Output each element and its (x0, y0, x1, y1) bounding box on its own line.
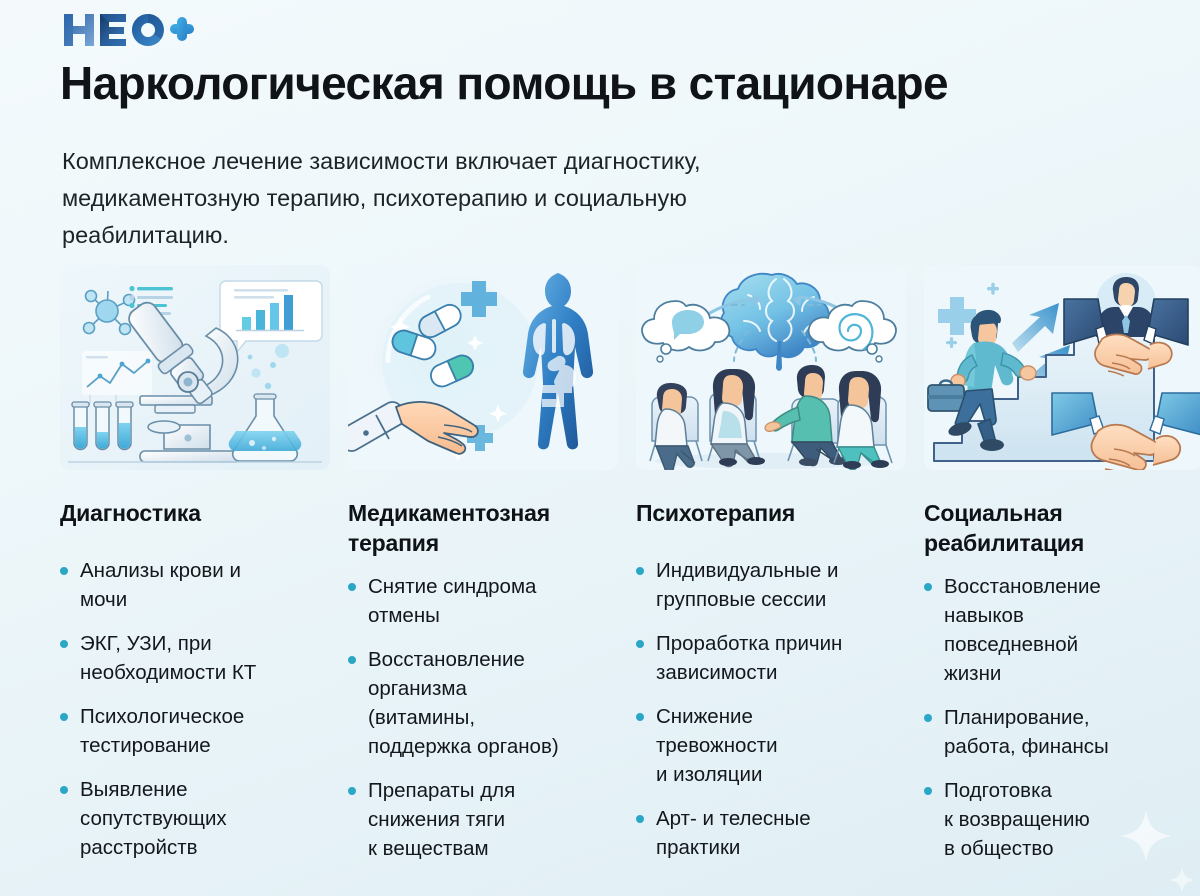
bullet-dot-icon (348, 656, 356, 664)
page-subtitle: Комплексное лечение зависимости включает… (62, 143, 942, 254)
group-therapy-brain-illustration (636, 265, 906, 470)
bullet-dot-icon (636, 640, 644, 648)
column-heading-psychotherapy: Психотерапия (636, 498, 886, 528)
column-medication-therapy: Медикаментозная терапия Снятие синдрома … (330, 265, 618, 878)
bullet-dot-icon (60, 567, 68, 575)
infographic-page: Наркологическая помощь в стационаре Комп… (0, 0, 1200, 896)
bullet-dot-icon (348, 787, 356, 795)
list-item: Снижение тревожности и изоляции (636, 702, 900, 789)
list-item: ЭКГ, УЗИ, при необходимости КТ (60, 629, 324, 687)
bullet-list-diagnostics: Анализы крови и мочи ЭКГ, УЗИ, при необх… (60, 556, 330, 862)
bullet-dot-icon (636, 815, 644, 823)
microscope-lab-illustration (60, 265, 330, 470)
list-item: Выявление сопутствующих расстройств (60, 775, 324, 862)
list-item: Снятие синдрома отмены (348, 572, 618, 630)
bullet-list-psychotherapy: Индивидуальные и групповые сессии Прораб… (636, 556, 906, 862)
bullet-dot-icon (924, 714, 932, 722)
column-heading-social-rehab: Социальная реабилитация (924, 498, 1154, 558)
bullet-dot-icon (924, 583, 932, 591)
bullet-dot-icon (60, 640, 68, 648)
list-item: Препараты для снижения тяги к веществам (348, 776, 618, 863)
bullet-dot-icon (924, 787, 932, 795)
stairs-handshake-illustration (924, 265, 1200, 470)
list-item: Планирование, работа, финансы (924, 703, 1160, 761)
list-item: Подготовка к возвращению в общество (924, 776, 1160, 863)
columns-container: Диагностика Анализы крови и мочи ЭКГ, УЗ… (0, 265, 1200, 878)
bullet-dot-icon (60, 713, 68, 721)
list-item: Индивидуальные и групповые сессии (636, 556, 900, 614)
neo-plus-logo (62, 8, 194, 52)
column-heading-medication: Медикаментозная терапия (348, 498, 610, 558)
list-item: Восстановление организма (витамины, подд… (348, 645, 618, 761)
list-item: Арт- и телесные практики (636, 804, 900, 862)
pills-hand-body-illustration (348, 265, 618, 470)
column-psychotherapy: Психотерапия Индивидуальные и групповые … (618, 265, 906, 878)
bullet-dot-icon (348, 583, 356, 591)
column-diagnostics: Диагностика Анализы крови и мочи ЭКГ, УЗ… (0, 265, 330, 878)
list-item: Анализы крови и мочи (60, 556, 324, 614)
bullet-dot-icon (60, 786, 68, 794)
page-title: Наркологическая помощь в стационаре (60, 57, 1160, 109)
column-social-rehabilitation: Социальная реабилитация Восстановление н… (906, 265, 1200, 878)
bullet-list-medication: Снятие синдрома отмены Восстановление ор… (348, 572, 618, 863)
bullet-dot-icon (636, 567, 644, 575)
list-item: Проработка причин зависимости (636, 629, 900, 687)
list-item: Психологическое тестирование (60, 702, 324, 760)
bullet-list-social-rehab: Восстановление навыков повседневной жизн… (924, 572, 1200, 863)
bullet-dot-icon (636, 713, 644, 721)
list-item: Восстановление навыков повседневной жизн… (924, 572, 1160, 688)
column-heading-diagnostics: Диагностика (60, 498, 310, 528)
